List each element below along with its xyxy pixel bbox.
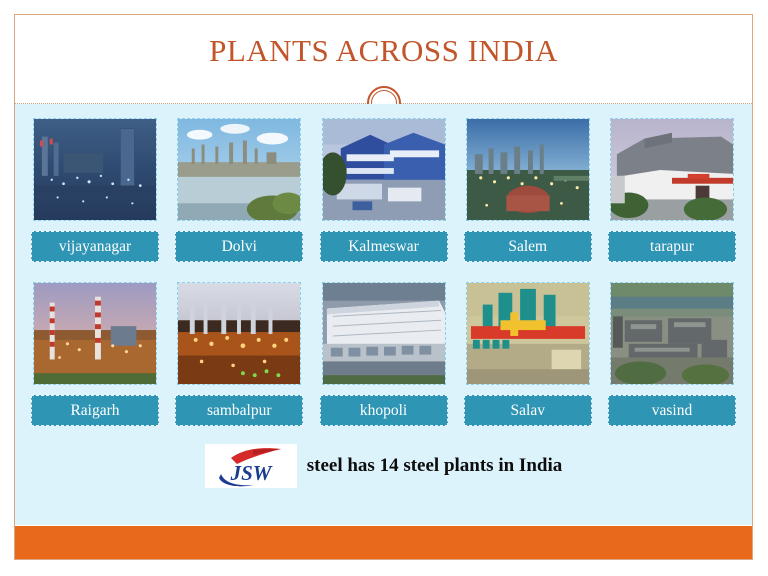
plant-photo-salav — [466, 282, 590, 385]
plant-photo-salem — [466, 118, 590, 221]
plant-label[interactable]: Kalmeswar — [320, 231, 448, 262]
footer-caption-row: JSW steel has 14 steel plants in India — [15, 444, 752, 488]
plant-photo-vasind — [610, 282, 734, 385]
plant-photo-dolvi — [177, 118, 301, 221]
plant-label[interactable]: Salav — [464, 395, 592, 426]
plant-photo-khopoli — [322, 282, 446, 385]
plant-label[interactable]: vasind — [608, 395, 736, 426]
slide-body: vijayanagar — [15, 104, 752, 525]
plant-label[interactable]: sambalpur — [175, 395, 303, 426]
plant-card-salav[interactable]: Salav — [464, 282, 592, 437]
jsw-logo-icon: JSW — [205, 444, 297, 488]
plant-label[interactable]: Raigarh — [31, 395, 159, 426]
plant-card-vijayanagar[interactable]: vijayanagar — [31, 118, 159, 273]
plant-card-sambalpur[interactable]: sambalpur — [175, 282, 303, 437]
slide: PLANTS ACROSS INDIA — [14, 14, 753, 560]
plant-photo-tarapur — [610, 118, 734, 221]
plant-photo-raigarh — [33, 282, 157, 385]
plant-card-tarapur[interactable]: tarapur — [608, 118, 736, 273]
svg-text:JSW: JSW — [229, 461, 272, 485]
plant-card-raigarh[interactable]: Raigarh — [31, 282, 159, 437]
plant-label[interactable]: Dolvi — [175, 231, 303, 262]
plant-photo-sambalpur — [177, 282, 301, 385]
plants-row-1: vijayanagar — [15, 118, 752, 273]
plant-label[interactable]: vijayanagar — [31, 231, 159, 262]
plant-card-vasind[interactable]: vasind — [608, 282, 736, 437]
bottom-accent-bar — [15, 526, 752, 559]
plant-label[interactable]: Salem — [464, 231, 592, 262]
plant-card-kalmeswar[interactable]: Kalmeswar — [320, 118, 448, 273]
plant-card-khopoli[interactable]: khopoli — [320, 282, 448, 437]
page-title: PLANTS ACROSS INDIA — [15, 33, 752, 69]
footer-caption-text: steel has 14 steel plants in India — [307, 455, 562, 477]
plant-card-salem[interactable]: Salem — [464, 118, 592, 273]
plant-label[interactable]: tarapur — [608, 231, 736, 262]
plants-row-2: Raigarh — [15, 282, 752, 437]
plant-photo-vijayanagar — [33, 118, 157, 221]
plant-label[interactable]: khopoli — [320, 395, 448, 426]
plant-card-dolvi[interactable]: Dolvi — [175, 118, 303, 273]
plant-photo-kalmeswar — [322, 118, 446, 221]
